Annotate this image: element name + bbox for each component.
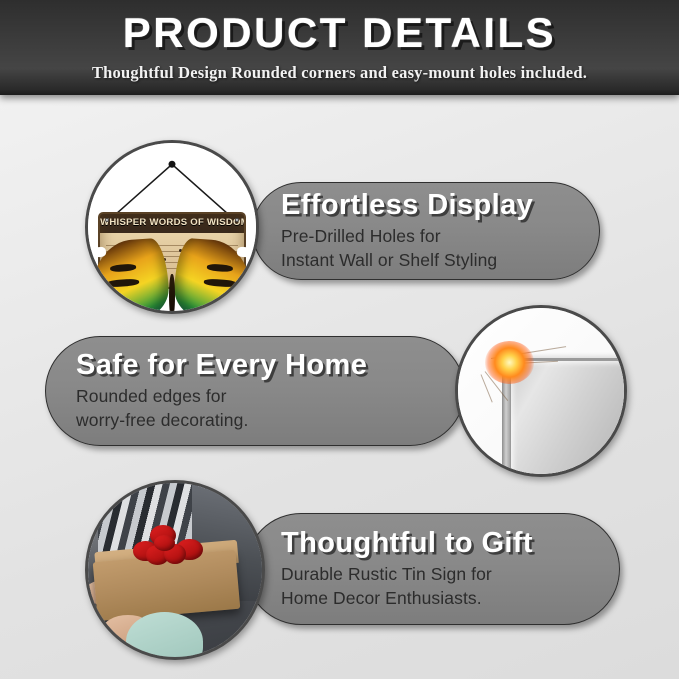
rounded-metal-corner-photo [455, 305, 627, 477]
feature-subtitle-line-1: Pre-Drilled Holes for [281, 225, 599, 248]
feature-subtitle-line-1: Durable Rustic Tin Sign for [281, 563, 619, 586]
tin-sign-caption: WHISPER WORDS OF WISDOM [100, 217, 244, 228]
feature-subtitle-line-1: Rounded edges for [76, 385, 464, 408]
feature-panel-effortless-display: Effortless Display Pre-Drilled Holes for… [252, 182, 600, 280]
page-title: PRODUCT DETAILS [123, 12, 556, 54]
feature-subtitle-line-2: worry-free decorating. [76, 409, 464, 432]
page-subtitle: Thoughtful Design Rounded corners and ea… [92, 63, 587, 83]
butterfly-body [169, 274, 174, 314]
feature-title: Effortless Display [281, 190, 599, 220]
feature-panel-safe-for-every-home: Safe for Every Home Rounded edges for wo… [45, 336, 465, 446]
gift-bow [133, 525, 203, 572]
butterfly-wing-left [89, 238, 172, 314]
gift-box-handoff-photo [85, 480, 265, 660]
feature-subtitle-line-2: Instant Wall or Shelf Styling [281, 249, 599, 272]
page-header: PRODUCT DETAILS Thoughtful Design Rounde… [0, 0, 679, 95]
hanging-tin-sign-photo: WHISPER WORDS OF WISDOM [85, 140, 259, 314]
feature-title: Thoughtful to Gift [281, 528, 619, 558]
butterfly-wing-right [173, 238, 256, 314]
feature-title: Safe for Every Home [76, 350, 464, 380]
feature-panel-thoughtful-to-gift: Thoughtful to Gift Durable Rustic Tin Si… [245, 513, 620, 625]
feature-subtitle-line-2: Home Decor Enthusiasts. [281, 587, 619, 610]
